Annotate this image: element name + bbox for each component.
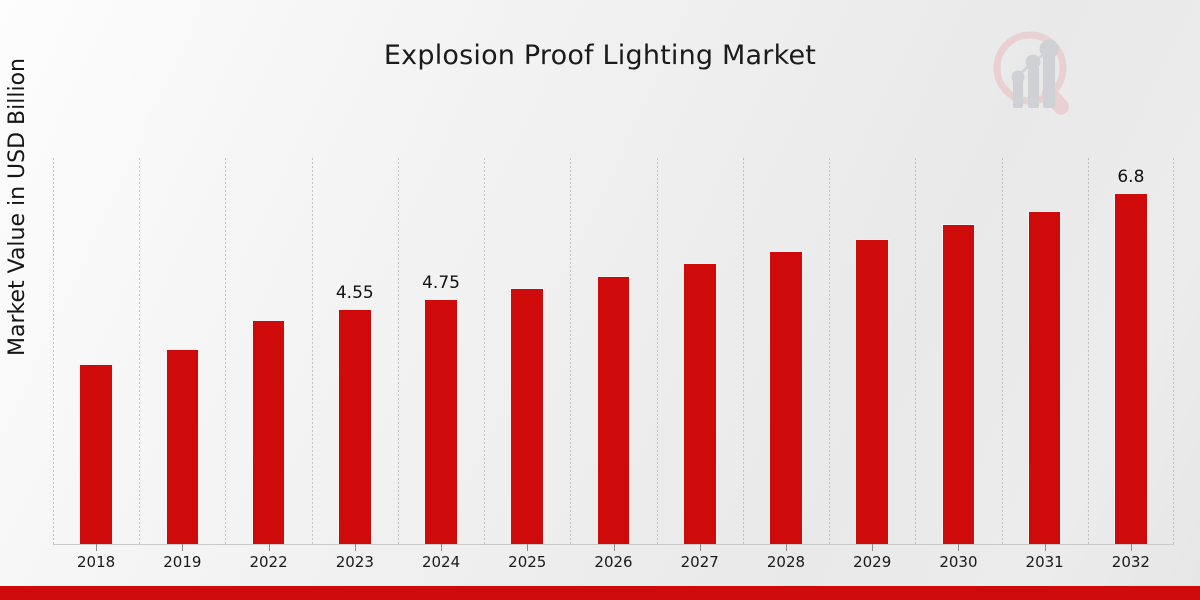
bar-rect[interactable]	[510, 288, 544, 544]
bar-rect[interactable]	[252, 320, 286, 544]
gridline	[53, 158, 54, 544]
bar-2019[interactable]	[166, 158, 200, 544]
x-tick-mark	[1045, 544, 1046, 551]
x-tick-mark	[872, 544, 873, 551]
gridline	[1173, 158, 1174, 544]
plot-area: 4.554.756.8	[53, 158, 1174, 544]
bar-2029[interactable]	[855, 158, 889, 544]
x-tick-mark	[269, 544, 270, 551]
bar-rect[interactable]	[1028, 211, 1062, 544]
x-tick-label-2019: 2019	[163, 553, 201, 571]
magnifier-bar-chart-logo-icon	[985, 24, 1085, 124]
x-tick-mark	[96, 544, 97, 551]
bar-value-label-2032: 6.8	[1117, 167, 1144, 187]
x-tick-mark	[441, 544, 442, 551]
bar-2030[interactable]	[942, 158, 976, 544]
bar-rect[interactable]	[424, 299, 458, 544]
bar-2031[interactable]	[1028, 158, 1062, 544]
x-tick-mark	[958, 544, 959, 551]
gridline	[398, 158, 399, 544]
x-tick-label-2028: 2028	[767, 553, 805, 571]
x-tick-label-2018: 2018	[77, 553, 115, 571]
bar-value-label-2024: 4.75	[422, 273, 460, 293]
bar-rect[interactable]	[1114, 193, 1148, 544]
bar-2026[interactable]	[597, 158, 631, 544]
x-tick-mark	[355, 544, 356, 551]
x-tick-label-2031: 2031	[1026, 553, 1064, 571]
gridline	[829, 158, 830, 544]
gridline	[484, 158, 485, 544]
bar-rect[interactable]	[597, 276, 631, 544]
bar-rect[interactable]	[683, 263, 717, 544]
x-tick-label-2025: 2025	[508, 553, 546, 571]
x-tick-label-2026: 2026	[594, 553, 632, 571]
bar-rect[interactable]	[166, 349, 200, 544]
gridline	[312, 158, 313, 544]
y-axis-title: Market Value in USD Billion	[5, 0, 31, 417]
gridline	[915, 158, 916, 544]
bar-2023[interactable]: 4.55	[338, 158, 372, 544]
gridline	[743, 158, 744, 544]
gridline	[1002, 158, 1003, 544]
bar-rect[interactable]	[942, 224, 976, 544]
gridline	[570, 158, 571, 544]
x-tick-label-2030: 2030	[939, 553, 977, 571]
x-tick-label-2023: 2023	[336, 553, 374, 571]
x-tick-label-2032: 2032	[1112, 553, 1150, 571]
x-tick-mark	[1131, 544, 1132, 551]
footer-accent-bar	[0, 586, 1200, 600]
bar-2032[interactable]: 6.8	[1114, 158, 1148, 544]
bar-2025[interactable]	[510, 158, 544, 544]
chart-figure: Explosion Proof Lighting Market Market V…	[0, 0, 1200, 600]
bar-2022[interactable]	[252, 158, 286, 544]
x-tick-label-2029: 2029	[853, 553, 891, 571]
bar-rect[interactable]	[338, 309, 372, 544]
x-tick-mark	[700, 544, 701, 551]
gridline	[139, 158, 140, 544]
bar-2024[interactable]: 4.75	[424, 158, 458, 544]
gridline	[1088, 158, 1089, 544]
bar-2028[interactable]	[769, 158, 803, 544]
x-tick-label-2027: 2027	[681, 553, 719, 571]
x-tick-label-2024: 2024	[422, 553, 460, 571]
x-tick-mark	[527, 544, 528, 551]
bar-rect[interactable]	[855, 239, 889, 544]
gridline	[657, 158, 658, 544]
bar-rect[interactable]	[769, 251, 803, 544]
bar-2027[interactable]	[683, 158, 717, 544]
x-tick-mark	[614, 544, 615, 551]
bar-value-label-2023: 4.55	[336, 283, 374, 303]
bar-rect[interactable]	[79, 364, 113, 544]
x-tick-mark	[182, 544, 183, 551]
x-tick-label-2022: 2022	[249, 553, 287, 571]
gridline	[225, 158, 226, 544]
x-tick-mark	[786, 544, 787, 551]
bar-2018[interactable]	[79, 158, 113, 544]
